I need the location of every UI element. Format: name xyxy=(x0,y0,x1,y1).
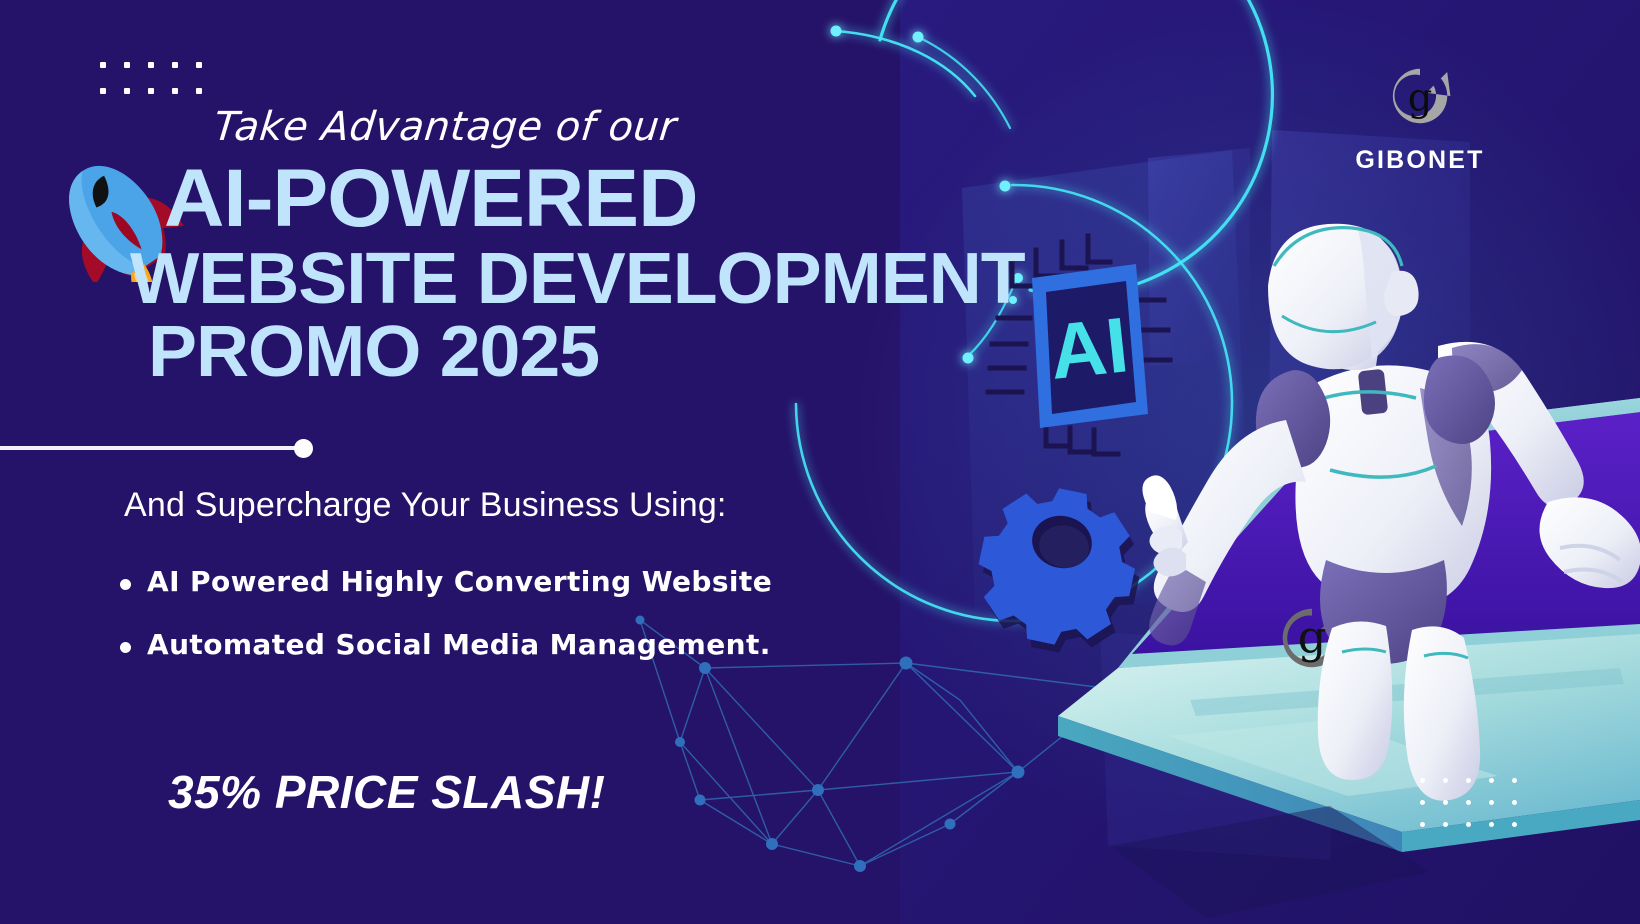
benefit-text: AI Powered Highly Converting Website xyxy=(147,565,772,598)
divider-knob xyxy=(294,439,313,458)
price-callout: 35% PRICE SLASH! xyxy=(168,765,605,819)
bullet-dot-icon xyxy=(120,642,131,653)
list-item: AI Powered Highly Converting Website xyxy=(120,565,772,598)
list-item: Automated Social Media Management. xyxy=(120,628,772,661)
chip-label: AI xyxy=(1046,300,1133,396)
headline-line-1: AI-POWERED xyxy=(164,160,966,239)
subheadline: And Supercharge Your Business Using: xyxy=(124,486,727,525)
ai-chip: AI xyxy=(1032,264,1148,428)
headline-line-3: PROMO 2025 xyxy=(148,318,966,387)
decorative-dot-grid-bottomright xyxy=(1420,778,1535,844)
logo-letter-g: g xyxy=(1408,75,1433,120)
brand-name: GIBONET xyxy=(1346,146,1494,175)
eyebrow-text: Take Advantage of our xyxy=(212,104,679,150)
benefit-text: Automated Social Media Management. xyxy=(147,628,771,661)
headline: AI-POWERED WEBSITE DEVELOPMENT PROMO 202… xyxy=(130,160,950,387)
gibonet-logo-icon: g xyxy=(1388,64,1452,128)
divider-rule xyxy=(0,446,300,450)
brand-lockup: g GIBONET xyxy=(1346,64,1494,175)
copy-block: Take Advantage of our AI-POWERED WEBSITE… xyxy=(0,0,960,924)
bullet-dot-icon xyxy=(120,579,131,590)
promo-banner: AI xyxy=(0,0,1640,924)
benefit-list: AI Powered Highly Converting Website Aut… xyxy=(120,565,772,691)
headline-line-2: WEBSITE DEVELOPMENT xyxy=(130,245,966,314)
